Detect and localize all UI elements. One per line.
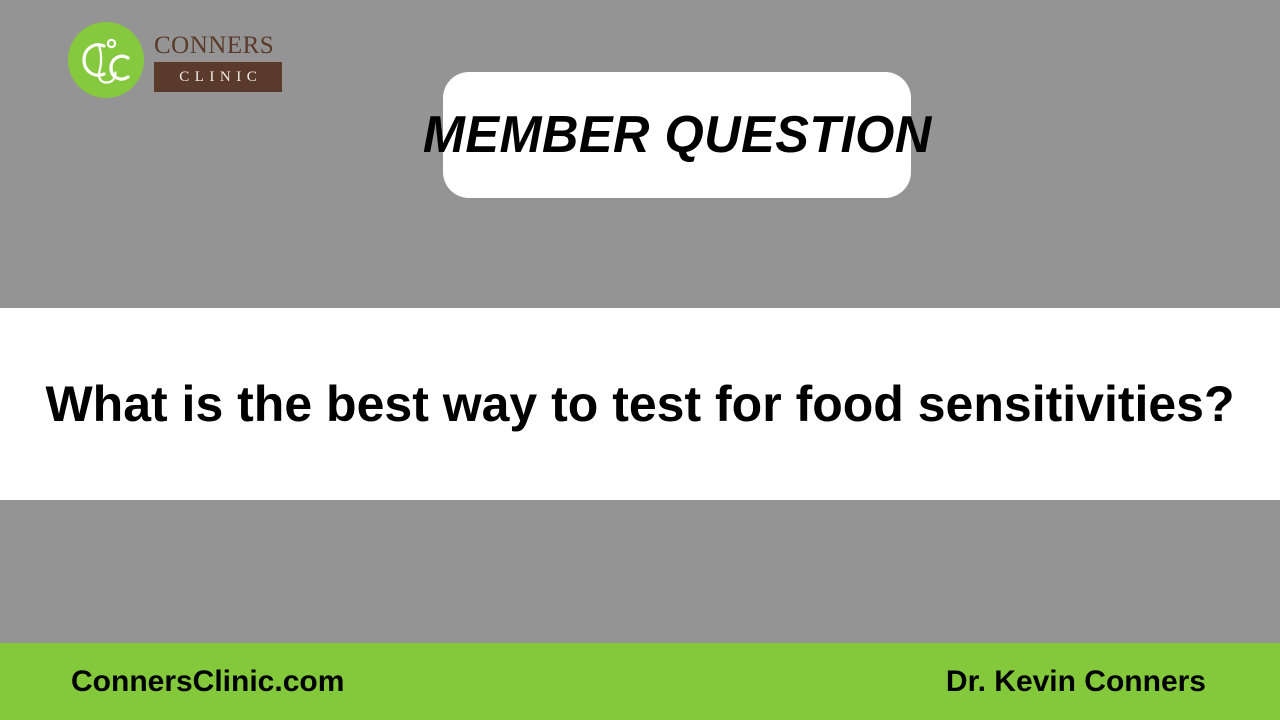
question-area: What is the best way to test for food se… (0, 308, 1280, 500)
logo-wordmark: CONNERS CLINIC (154, 33, 286, 92)
footer-presenter-name: Dr. Kevin Conners (946, 643, 1206, 720)
logo-clinic-label: CLINIC (174, 70, 263, 85)
member-question-banner: MEMBER QUESTION (443, 72, 911, 198)
question-text: What is the best way to test for food se… (45, 375, 1234, 433)
footer-bar: ConnersClinic.com Dr. Kevin Conners (0, 643, 1280, 720)
stethoscope-cc-monogram-icon (68, 22, 144, 98)
slide-canvas: CONNERS CLINIC MEMBER QUESTION What is t… (0, 0, 1280, 720)
conners-clinic-logo: CONNERS CLINIC (68, 22, 290, 102)
logo-clinic-bar: CLINIC (154, 62, 282, 92)
logo-brand-name: CONNERS (154, 33, 286, 59)
lower-gray-band (0, 500, 1280, 643)
footer-website: ConnersClinic.com (71, 643, 344, 720)
member-question-label: MEMBER QUESTION (423, 109, 932, 161)
